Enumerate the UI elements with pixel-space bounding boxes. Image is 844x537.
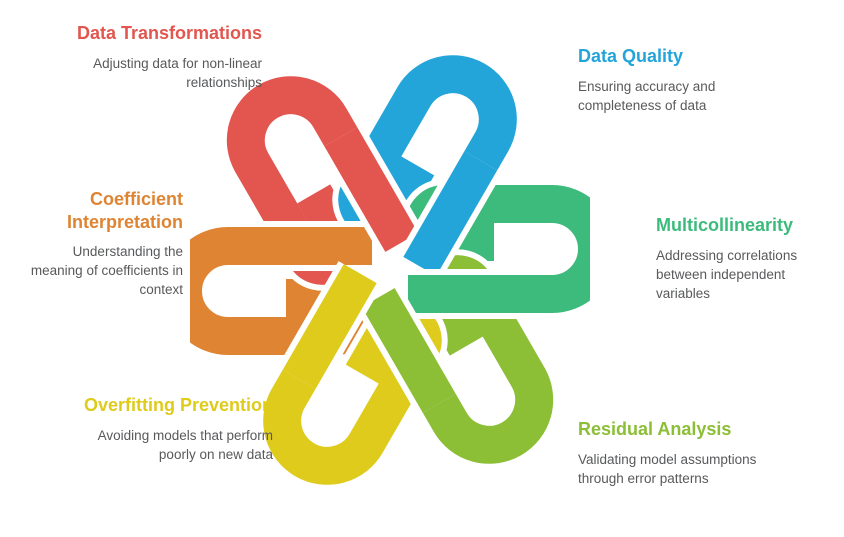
item-residual-analysis: Residual Analysis Validating model assum… [578, 418, 778, 488]
item-data-quality: Data Quality Ensuring accuracy and compl… [578, 45, 788, 115]
item-multicollinearity: Multicollinearity Addressing correlation… [656, 214, 834, 303]
item-description: Ensuring accuracy and completeness of da… [578, 77, 788, 115]
item-description: Understanding the meaning of coefficient… [20, 242, 183, 299]
item-title: Coefficient Interpretation [20, 188, 183, 233]
knot-weave-overlay [250, 137, 530, 403]
item-title: Residual Analysis [578, 418, 778, 441]
item-title: Overfitting Prevention [80, 394, 273, 417]
item-data-transformations: Data Transformations Adjusting data for … [61, 22, 262, 92]
item-coefficient-interpretation: Coefficient Interpretation Understanding… [20, 188, 183, 299]
infographic-canvas: Data Transformations Adjusting data for … [0, 0, 844, 537]
item-description: Addressing correlations between independ… [656, 246, 834, 303]
item-title: Multicollinearity [656, 214, 834, 237]
item-title: Data Transformations [61, 22, 262, 45]
item-description: Adjusting data for non-linear relationsh… [61, 54, 262, 92]
item-overfitting-prevention: Overfitting Prevention Avoiding models t… [80, 394, 273, 464]
item-description: Validating model assumptions through err… [578, 450, 778, 488]
item-description: Avoiding models that perform poorly on n… [80, 426, 273, 464]
item-title: Data Quality [578, 45, 788, 68]
